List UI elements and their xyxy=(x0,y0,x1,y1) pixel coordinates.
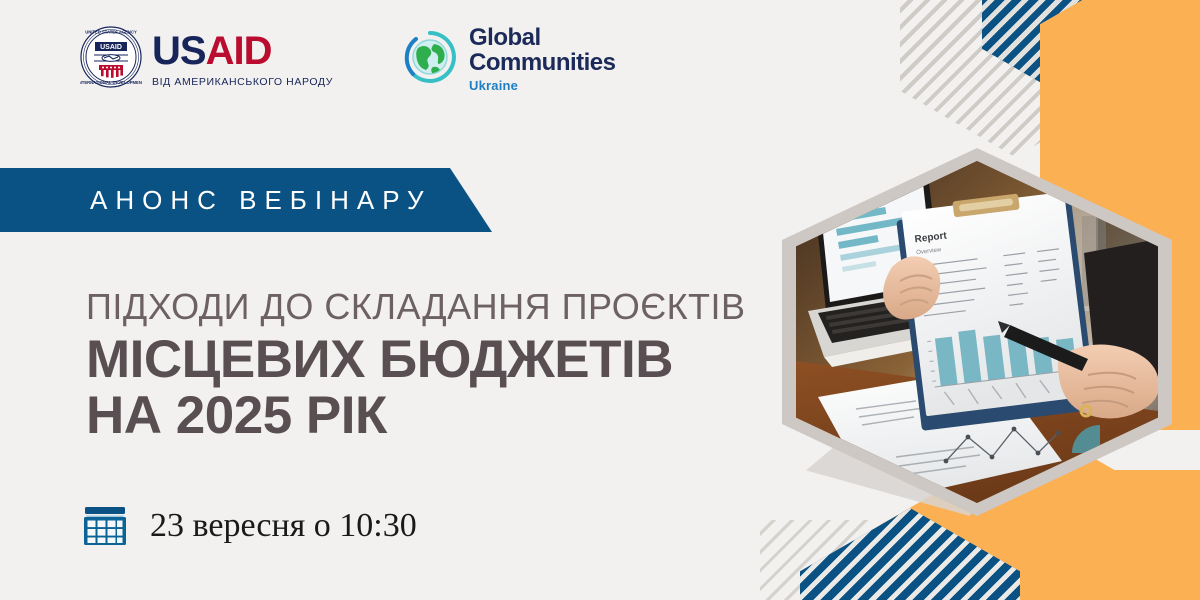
orange-bottom-fill xyxy=(1040,470,1200,600)
globe-icon xyxy=(403,30,457,89)
ribbon-label: АНОНС ВЕБІНАРУ xyxy=(90,185,432,216)
event-datetime: 23 вересня о 10:30 xyxy=(82,503,417,549)
gc-line-1: Global xyxy=(469,26,616,50)
page-title: ПІДХОДИ ДО СКЛАДАННЯ ПРОЄКТІВ МІСЦЕВИХ Б… xyxy=(86,288,746,444)
usaid-logo: UNITED STATES AGENCY INTERNATIONAL DEVEL… xyxy=(80,26,333,93)
gc-country-label: Ukraine xyxy=(469,79,616,92)
usaid-seal-icon: UNITED STATES AGENCY INTERNATIONAL DEVEL… xyxy=(80,26,142,93)
logo-row: UNITED STATES AGENCY INTERNATIONAL DEVEL… xyxy=(80,26,616,93)
usaid-tagline: ВІД АМЕРИКАНСЬКОГО НАРОДУ xyxy=(152,76,333,88)
svg-text:INTERNATIONAL DEVELOPMENT: INTERNATIONAL DEVELOPMENT xyxy=(80,80,142,85)
svg-text:USAID: USAID xyxy=(100,44,122,51)
usaid-word-us: US xyxy=(152,29,206,73)
global-communities-wordmark: Global Communities Ukraine xyxy=(469,26,616,92)
headline-line-3: НА 2025 РІК xyxy=(86,388,746,444)
headline-line-1: ПІДХОДИ ДО СКЛАДАННЯ ПРОЄКТІВ xyxy=(86,288,746,326)
usaid-word-aid: AID xyxy=(206,29,272,73)
webinar-announcement-banner: Report Overview xyxy=(0,0,1200,600)
calendar-icon xyxy=(82,503,128,549)
gc-line-2: Communities xyxy=(469,51,616,75)
global-communities-logo: Global Communities Ukraine xyxy=(403,26,616,92)
announcement-ribbon: АНОНС ВЕБІНАРУ xyxy=(0,168,492,232)
svg-text:UNITED STATES AGENCY: UNITED STATES AGENCY xyxy=(85,30,137,35)
photo-image: Report Overview xyxy=(796,161,1158,503)
event-date-text: 23 вересня о 10:30 xyxy=(150,507,417,545)
usaid-wordmark-text: USAID xyxy=(152,31,333,71)
usaid-wordmark: USAID ВІД АМЕРИКАНСЬКОГО НАРОДУ xyxy=(152,31,333,88)
headline-line-2: МІСЦЕВИХ БЮДЖЕТІВ xyxy=(86,332,746,388)
